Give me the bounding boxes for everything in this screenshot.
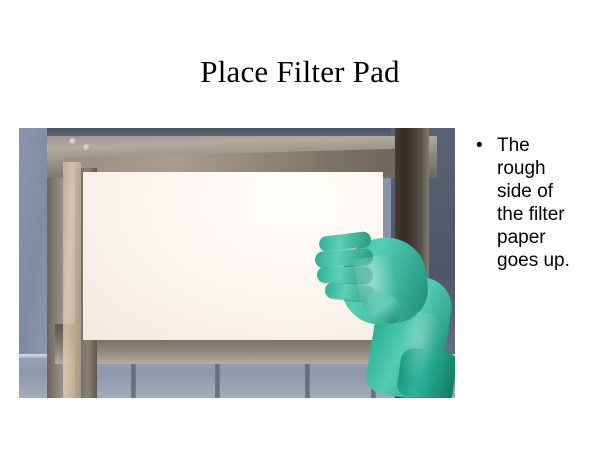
bullet-line: goes up. [497, 249, 596, 272]
bullet-line: side of [497, 180, 596, 203]
bullet-marker-icon: • [470, 134, 497, 157]
bullet-line: The [497, 134, 596, 157]
bullet-item: • The rough side of the filter paper goe… [470, 134, 596, 272]
bullet-line: rough [497, 157, 596, 180]
filter-pad-photo [19, 128, 455, 398]
bullet-line: paper [497, 226, 596, 249]
bullet-list: • The rough side of the filter paper goe… [470, 134, 596, 272]
gloved-hand [315, 220, 455, 398]
bullet-item-text: The rough side of the filter paper goes … [497, 134, 596, 272]
frame-bracket [63, 162, 81, 398]
frame-bolt [69, 138, 77, 146]
bullet-line: the filter [497, 203, 596, 226]
page-title: Place Filter Pad [0, 54, 600, 90]
frame-bolt [83, 144, 91, 152]
